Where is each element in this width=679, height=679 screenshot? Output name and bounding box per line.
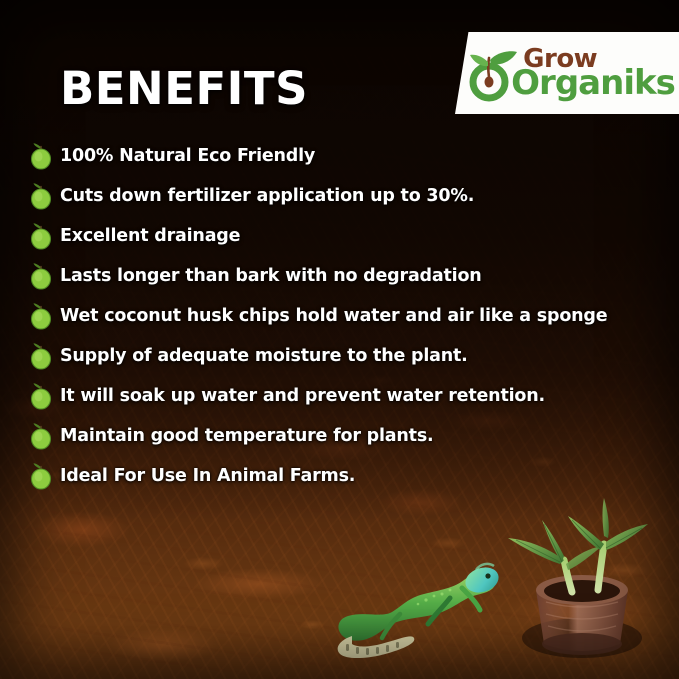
list-item-label: Wet coconut husk chips hold water and ai… xyxy=(60,306,607,326)
list-item: Cuts down fertilizer application up to 3… xyxy=(28,176,658,216)
green-apple-icon xyxy=(28,182,54,210)
page-title: BENEFITS xyxy=(60,62,308,115)
list-item-label: Cuts down fertilizer application up to 3… xyxy=(60,186,474,206)
brand-word-organiks: Organiks xyxy=(511,69,675,98)
list-item-label: Lasts longer than bark with no degradati… xyxy=(60,266,482,286)
benefits-list: 100% Natural Eco Friendly Cuts down fert… xyxy=(28,136,658,496)
benefits-poster: Grow Organiks BENEFITS 100% Natural Eco … xyxy=(0,0,679,679)
list-item-label: It will soak up water and prevent water … xyxy=(60,386,545,406)
green-apple-icon xyxy=(28,262,54,290)
list-item-label: Maintain good temperature for plants. xyxy=(60,426,434,446)
green-apple-icon xyxy=(28,342,54,370)
list-item-label: Ideal For Use In Animal Farms. xyxy=(60,466,355,486)
list-item-label: Excellent drainage xyxy=(60,226,240,246)
list-item: Ideal For Use In Animal Farms. xyxy=(28,456,658,496)
green-apple-icon xyxy=(28,142,54,170)
list-item: Lasts longer than bark with no degradati… xyxy=(28,256,658,296)
brand-logo: Grow Organiks xyxy=(467,44,675,102)
green-apple-icon xyxy=(28,382,54,410)
green-apple-icon xyxy=(28,222,54,250)
list-item: Excellent drainage xyxy=(28,216,658,256)
list-item-label: Supply of adequate moisture to the plant… xyxy=(60,346,468,366)
list-item: 100% Natural Eco Friendly xyxy=(28,136,658,176)
green-apple-icon xyxy=(28,302,54,330)
brand-logo-banner: Grow Organiks xyxy=(455,32,679,114)
list-item: Maintain good temperature for plants. xyxy=(28,416,658,456)
list-item: Wet coconut husk chips hold water and ai… xyxy=(28,296,658,336)
list-item: Supply of adequate moisture to the plant… xyxy=(28,336,658,376)
green-apple-icon xyxy=(28,462,54,490)
brand-logo-wordmark: Grow Organiks xyxy=(513,48,675,98)
list-item: It will soak up water and prevent water … xyxy=(28,376,658,416)
list-item-label: 100% Natural Eco Friendly xyxy=(60,146,315,166)
green-apple-icon xyxy=(28,422,54,450)
